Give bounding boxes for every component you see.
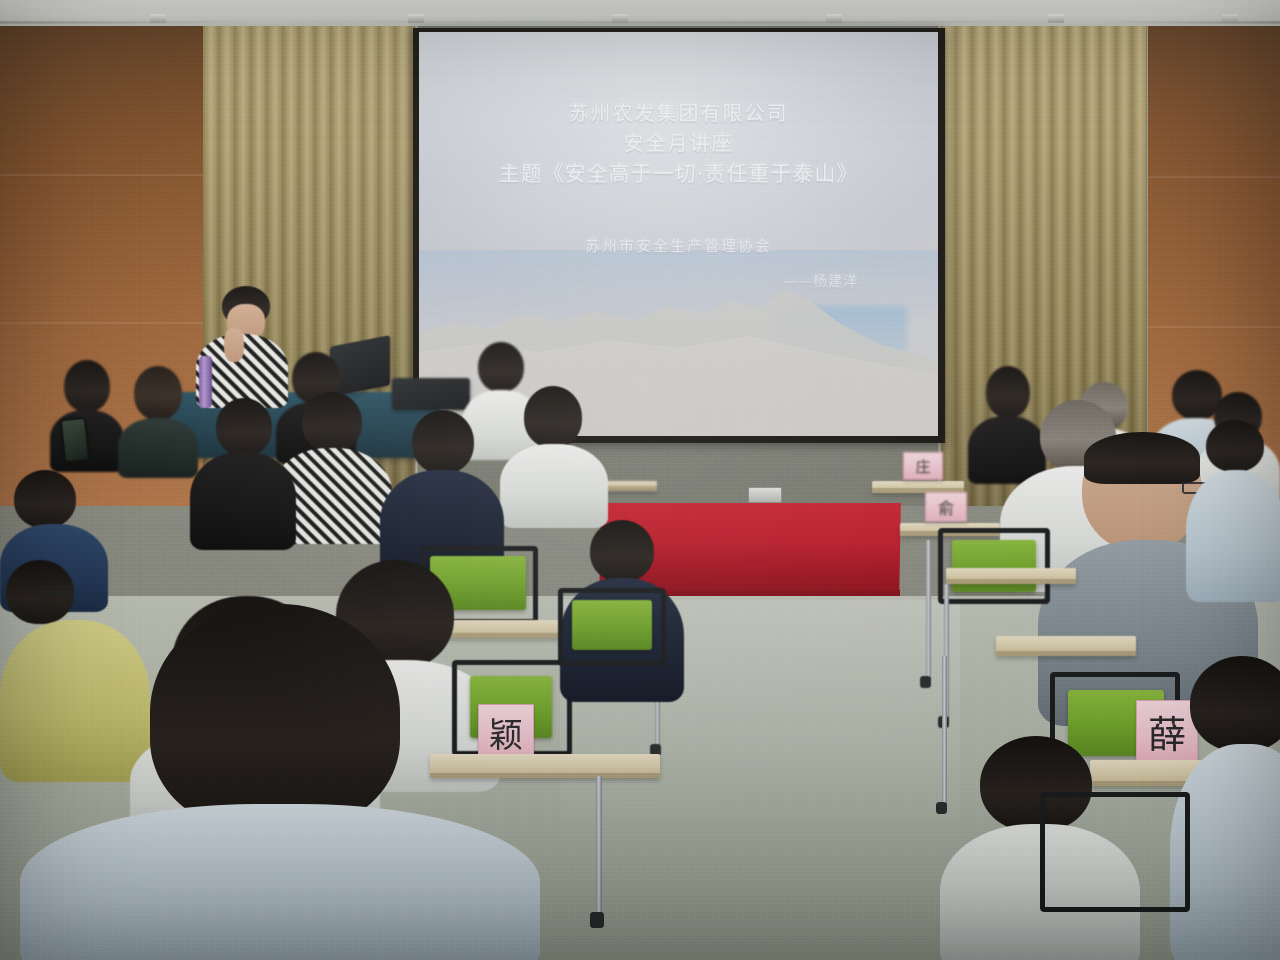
attendee-torso (1186, 470, 1280, 602)
ceiling-clip (408, 14, 424, 23)
slide-line-3: 主题《安全高于一切·责任重于泰山》 (499, 159, 859, 191)
attendee (118, 366, 198, 476)
presenter-laptop-base (392, 378, 470, 410)
ceiling-clip (612, 14, 628, 23)
chair-frame (938, 528, 1050, 604)
attendee-head (478, 342, 524, 392)
desk-edge (946, 579, 1076, 584)
attendee-head (412, 410, 474, 474)
presenter-hand (224, 328, 244, 362)
chair-frame (558, 588, 666, 666)
attendee-head (590, 520, 654, 582)
ceiling-clip (826, 14, 842, 23)
chair-frame (1040, 792, 1190, 912)
attendee-head (1190, 656, 1280, 752)
desk (996, 636, 1136, 656)
attendee-head (524, 386, 582, 448)
placard-text: 俞 (938, 495, 954, 519)
wall-panel-seam (1148, 326, 1280, 328)
attendee-head (134, 366, 182, 420)
attendee (500, 386, 608, 526)
attendee-head (216, 398, 272, 456)
eyeglasses (40, 586, 74, 594)
attendee-smartphone (60, 417, 90, 463)
desk-leg (596, 776, 602, 916)
desk-edge (996, 651, 1136, 656)
placard-yu: 俞 (925, 492, 967, 522)
wall-panel-seam (0, 174, 205, 176)
placard-zhuang: 庄 (903, 452, 943, 480)
slide-org-block: 苏州市安全生产管理协会 ——杨建洋 (419, 233, 938, 295)
slide-title-block: 苏州农发集团有限公司 安全月讲座 主题《安全高于一切·责任重于泰山》 (499, 98, 859, 191)
wall-power-outlet (748, 487, 782, 503)
attendee-head (150, 604, 400, 830)
ceiling-seam (0, 21, 1280, 24)
wall-panel-seam (1148, 176, 1280, 178)
attendee (1186, 420, 1280, 600)
attendee (190, 398, 296, 548)
attendee-torso (190, 452, 296, 550)
ceiling-clip (150, 14, 166, 23)
desk-leg (926, 540, 931, 680)
slide-author: ——杨建洋 (419, 270, 938, 295)
attendee-foreground (20, 604, 540, 960)
attendee-head (14, 470, 76, 528)
slide-line-1: 苏州农发集团有限公司 (499, 98, 859, 128)
attendee-head (1206, 420, 1264, 472)
ceiling-clip (1222, 14, 1238, 23)
slide-organization: 苏州市安全生产管理协会 (419, 233, 938, 260)
attendee-hair (1084, 432, 1200, 484)
attendee-head (302, 392, 362, 452)
lecture-hall-photo: 苏州农发集团有限公司 安全月讲座 主题《安全高于一切·责任重于泰山》 苏州市安全… (0, 0, 1280, 960)
desk-caster (920, 676, 931, 688)
attendee-head (64, 360, 110, 412)
attendee-torso (20, 804, 540, 960)
slide-line-2: 安全月讲座 (499, 128, 859, 158)
attendee-torso (118, 418, 198, 478)
desk-caster (590, 912, 604, 928)
desk (946, 568, 1076, 584)
placard-text: 庄 (915, 456, 930, 477)
attendee-torso (500, 444, 608, 528)
ceiling-clip (1048, 14, 1064, 23)
wall-panel-seam (0, 322, 205, 324)
